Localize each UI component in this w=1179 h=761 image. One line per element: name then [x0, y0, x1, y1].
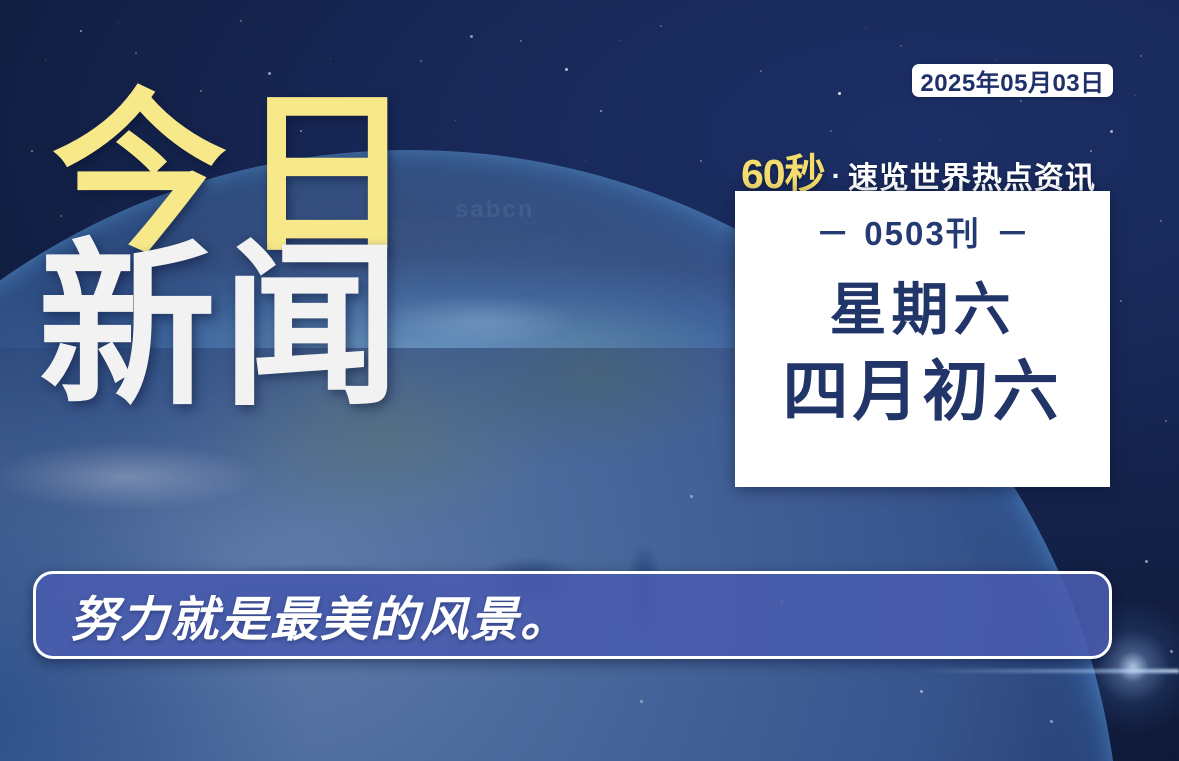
date-badge: 2025年05月03日 — [912, 64, 1113, 97]
weekday-label: 星期六 — [830, 281, 1016, 341]
issue-dash-right: － — [992, 215, 1033, 252]
lunar-date-label: 四月初六 — [783, 357, 1063, 426]
tagline-separator: · — [832, 160, 841, 192]
news-poster: sabcn 2025年05月03日 60秒 · 速览世界热点资讯 － 0503刊… — [0, 0, 1179, 761]
issue-number: 0503刊 — [864, 215, 980, 252]
slogan-text: 努力就是最美的风景。 — [70, 580, 570, 650]
issue-line: － 0503刊 － — [812, 207, 1033, 255]
issue-info-card: － 0503刊 － 星期六 四月初六 — [735, 191, 1110, 487]
slogan-banner: 努力就是最美的风景。 — [33, 571, 1112, 659]
page-title-line-2: 新闻 — [38, 244, 426, 410]
issue-dash-left: － — [812, 215, 853, 252]
poster-content: 2025年05月03日 60秒 · 速览世界热点资讯 － 0503刊 － 星期六… — [0, 0, 1179, 761]
page-title: 今日 新闻 — [52, 95, 426, 409]
